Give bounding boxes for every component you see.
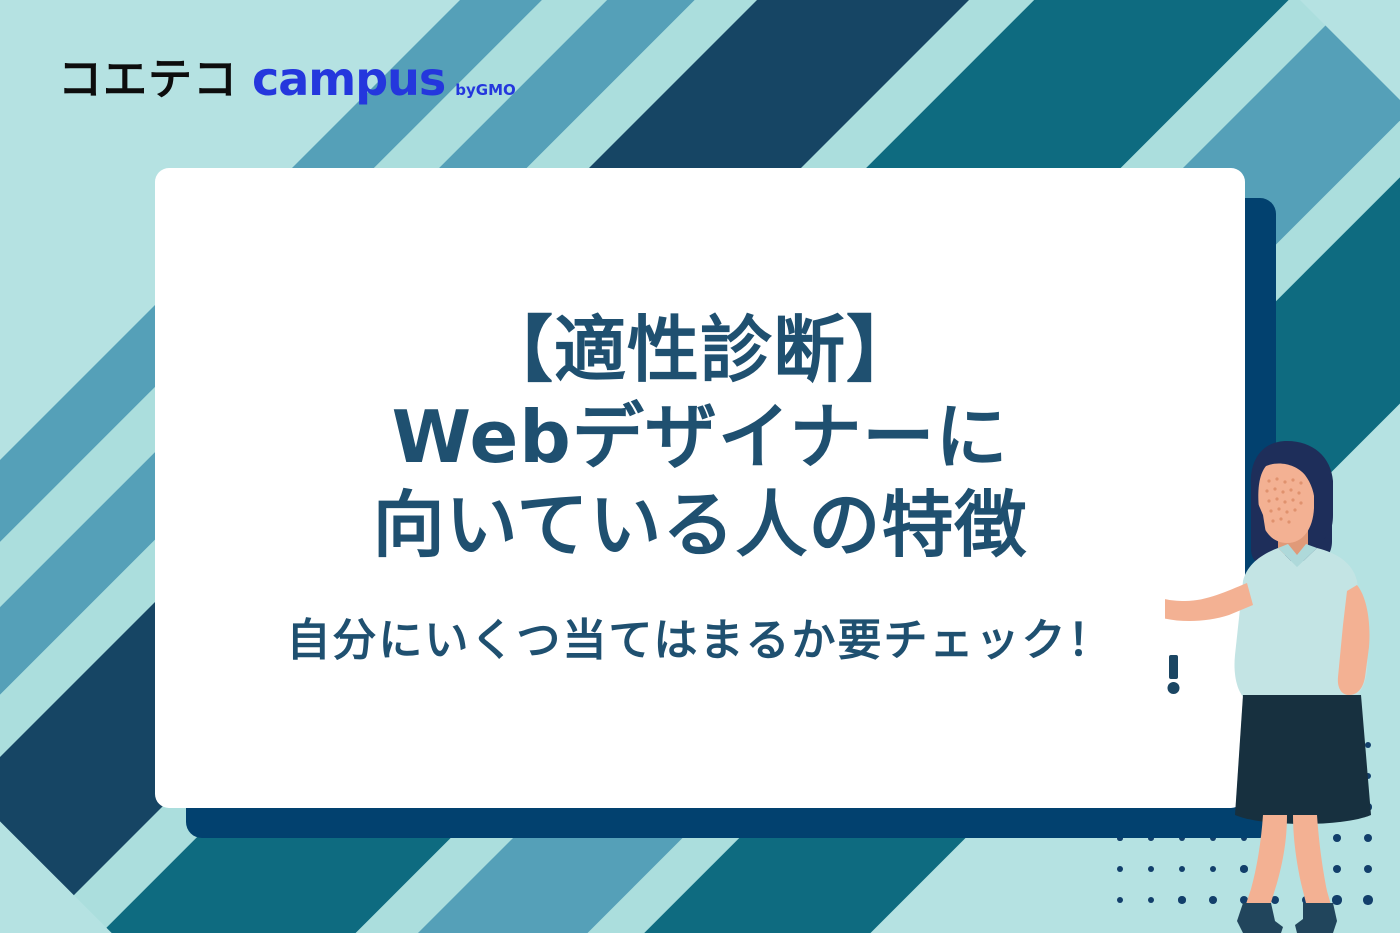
page-canvas: コエテコ campus byGMO 【適性診断】 Webデザイナーに 向いている… (0, 0, 1400, 933)
brand-logo[interactable]: コエテコ campus byGMO (58, 56, 516, 102)
logo-bygmo-text: byGMO (455, 83, 516, 102)
left-shoe-shape (1237, 903, 1283, 933)
skirt-shape (1235, 695, 1371, 824)
headline-card: 【適性診断】 Webデザイナーに 向いている人の特徴 自分にいくつ当てはまるか要… (155, 168, 1245, 808)
title-line-3: 向いている人の特徴 (373, 482, 1028, 570)
title-line-1: 【適性診断】 (373, 307, 1028, 395)
logo-koeteko-text: コエテコ (58, 58, 238, 102)
page-title: 【適性診断】 Webデザイナーに 向いている人の特徴 (373, 307, 1028, 570)
exclamation-bar (1169, 655, 1178, 679)
page-subtitle: 自分にいくつ当てはまるか要チェック！ (286, 612, 1113, 669)
dot-grid-dot (1148, 897, 1155, 904)
dot-grid-dot (1117, 897, 1124, 904)
right-leg-shape (1293, 815, 1331, 907)
exclamation-accent (1163, 655, 1185, 699)
illustration-standing-woman (1165, 415, 1400, 933)
right-shoe-shape (1295, 903, 1337, 933)
left-leg-shape (1245, 815, 1287, 909)
exclamation-dot (1168, 682, 1180, 694)
logo-campus-text: campus (252, 56, 445, 102)
dot-grid-dot (1148, 866, 1154, 872)
title-line-2: Webデザイナーに (373, 394, 1028, 482)
dot-grid-dot (1117, 866, 1123, 872)
